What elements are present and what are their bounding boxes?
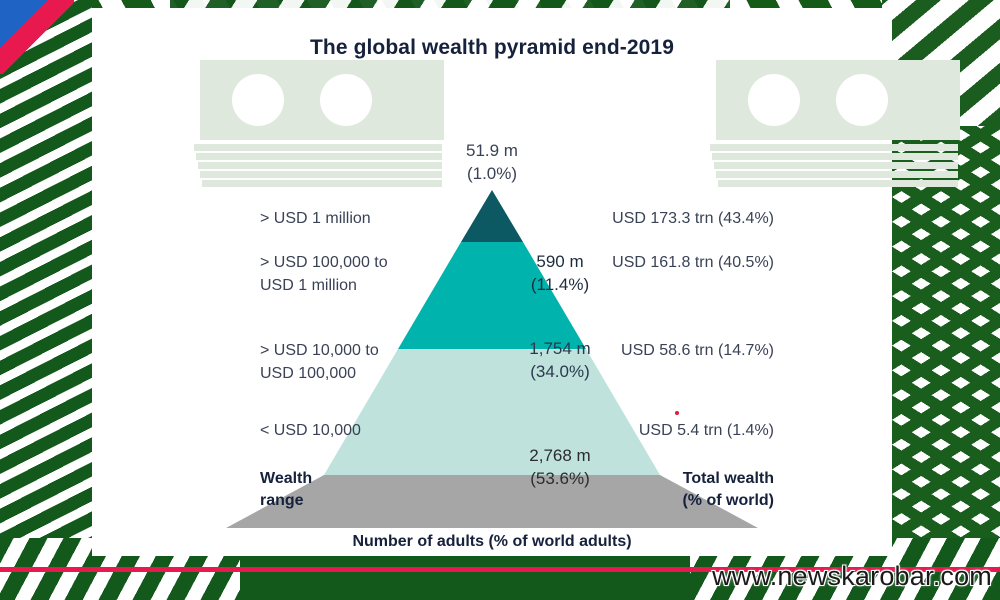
total-wealth-tier-4: USD 5.4 trn (1.4%): [524, 420, 774, 443]
wealth-range-tier-2-line-2: USD 1 million: [260, 275, 470, 298]
x-axis-caption: Number of adults (% of world adults): [92, 533, 892, 551]
tier-2-adults-percent: (11.4%): [490, 274, 630, 297]
wealth-range-axis-caption: Wealth range: [260, 468, 312, 512]
chart-title: The global wealth pyramid end-2019: [92, 36, 892, 60]
site-watermark: www.newskarobar.com: [712, 561, 992, 592]
total-wealth-tier-2: USD 161.8 trn (40.5%): [524, 252, 774, 275]
wealth-range-tier-2: > USD 100,000 to USD 1 million: [260, 252, 470, 297]
total-wealth-caption-line-2: (% of world): [682, 490, 774, 512]
tier-4-value-label: 2,768 m (53.6%): [490, 445, 630, 491]
wealth-range-tier-4: < USD 10,000: [260, 420, 470, 443]
bottom-solid-band: [240, 554, 690, 600]
content-panel: The global wealth pyramid end-2019 51.9 …: [92, 8, 892, 556]
pyramid-tier-1: [461, 190, 523, 242]
wealth-range-tier-3: > USD 10,000 to USD 100,000: [260, 340, 470, 385]
red-dot-artifact: [675, 411, 679, 415]
wealth-range-tier-3-line-1: > USD 10,000 to: [260, 340, 470, 363]
wealth-range-tier-4-line-1: < USD 10,000: [260, 420, 470, 443]
left-stripe-pattern: [0, 0, 92, 600]
tier-3-adults-percent: (34.0%): [490, 361, 630, 384]
total-wealth-axis-caption: Total wealth (% of world): [682, 468, 774, 512]
screenshot-root: The global wealth pyramid end-2019 51.9 …: [0, 0, 1000, 600]
tier-4-adults: 2,768 m: [490, 445, 630, 468]
right-chevron-pattern: [882, 126, 1000, 600]
wealth-range-caption-line-2: range: [260, 490, 312, 512]
apex-adults-percent: (1.0%): [422, 163, 562, 186]
total-wealth-tier-3: USD 58.6 trn (14.7%): [524, 340, 774, 363]
apex-callout: 51.9 m (1.0%): [422, 140, 562, 186]
wealth-range-tier-1: > USD 1 million: [260, 208, 470, 231]
total-wealth-caption-line-1: Total wealth: [682, 468, 774, 490]
wealth-range-caption-line-1: Wealth: [260, 468, 312, 490]
wealth-range-tier-3-line-2: USD 100,000: [260, 363, 470, 386]
banknote-watermark-left: [192, 60, 452, 192]
apex-adults: 51.9 m: [422, 140, 562, 163]
tier-4-adults-percent: (53.6%): [490, 468, 630, 491]
banknote-watermark-right: [710, 60, 968, 192]
corner-accent-blue: [0, 0, 52, 52]
wealth-range-tier-1-line-1: > USD 1 million: [260, 208, 470, 231]
wealth-range-tier-2-line-1: > USD 100,000 to: [260, 252, 470, 275]
total-wealth-tier-1: USD 173.3 trn (43.4%): [524, 208, 774, 231]
